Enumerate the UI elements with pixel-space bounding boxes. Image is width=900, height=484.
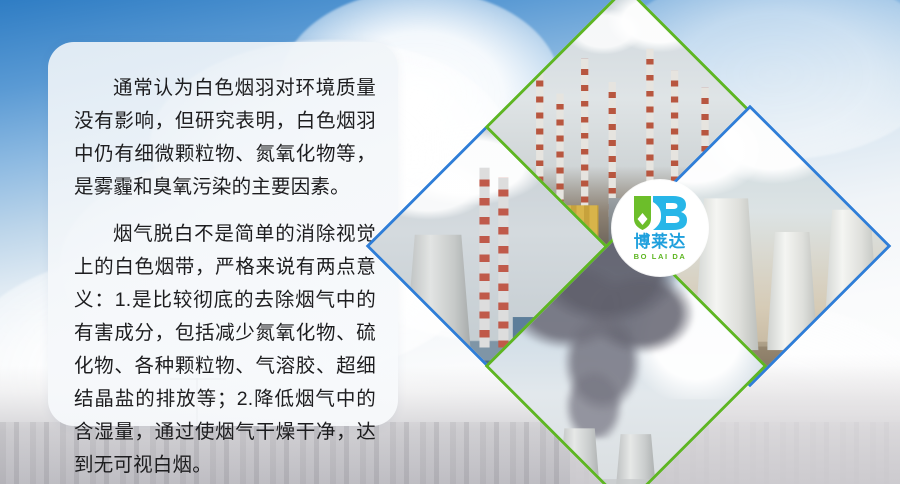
text-panel: 通常认为白色烟羽对环境质量没有影响，但研究表明，白色烟羽中仍有细微颗粒物、氮氧化… xyxy=(48,42,398,426)
logo-name-en: BO LAI DA xyxy=(634,252,687,262)
logo-name-cn: 博莱达 xyxy=(634,234,687,251)
poster-stage: 通常认为白色烟羽对环境质量没有影响，但研究表明，白色烟羽中仍有细微颗粒物、氮氧化… xyxy=(0,0,900,484)
paragraph-2: 烟气脱白不是简单的消除视觉上的白色烟带，严格来说有两点意义：1.是比较彻底的去除… xyxy=(74,218,376,482)
logo-b-mark-icon xyxy=(631,194,689,232)
company-logo[interactable]: 博莱达 BO LAI DA xyxy=(612,180,708,276)
paragraph-1: 通常认为白色烟羽对环境质量没有影响，但研究表明，白色烟羽中仍有细微颗粒物、氮氧化… xyxy=(74,72,376,204)
